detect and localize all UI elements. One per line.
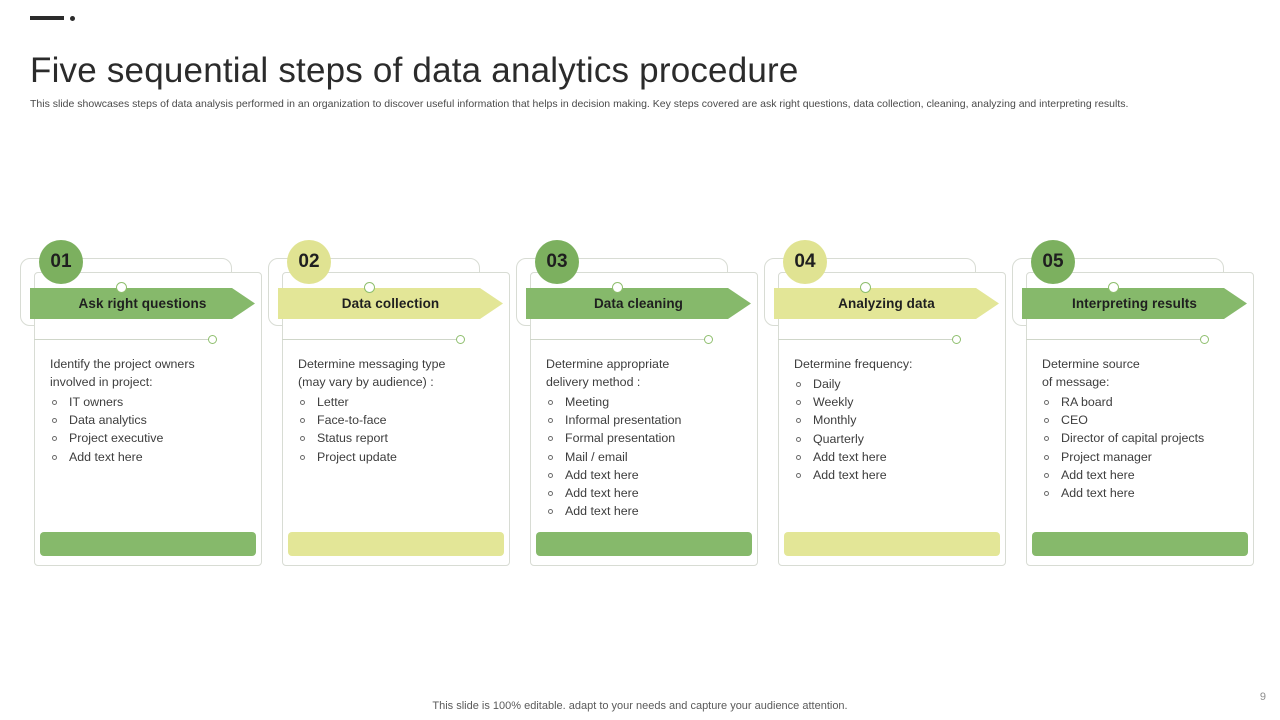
step-title: Interpreting results	[1072, 296, 1197, 311]
circle-bullet-icon	[1044, 473, 1049, 478]
step-02[interactable]: Data collection02Determine messaging typ…	[268, 236, 516, 566]
list-item: Add text here	[546, 466, 762, 484]
step-number-badge: 01	[39, 240, 83, 284]
list-item-label: Daily	[813, 377, 841, 391]
circle-bullet-icon	[300, 418, 305, 423]
step-lead-text: Identify the project owners involved in …	[50, 356, 266, 392]
step-body: Determine frequency:DailyWeeklyMonthlyQu…	[794, 356, 1010, 484]
list-item: RA board	[1042, 393, 1258, 411]
step-04[interactable]: Analyzing data04Determine frequency:Dail…	[764, 236, 1012, 566]
step-list: DailyWeeklyMonthlyQuarterlyAdd text here…	[794, 375, 1010, 484]
page-subtitle: This slide showcases steps of data analy…	[30, 97, 1170, 112]
circle-bullet-icon	[52, 436, 57, 441]
step-banner[interactable]: Interpreting results	[1022, 288, 1247, 319]
list-item-label: Informal presentation	[565, 413, 681, 427]
circle-bullet-icon	[548, 455, 553, 460]
circle-bullet-icon	[548, 473, 553, 478]
list-item: Add text here	[794, 448, 1010, 466]
list-item-label: Status report	[317, 431, 388, 445]
circle-bullet-icon	[796, 473, 801, 478]
list-item-label: Add text here	[1061, 486, 1135, 500]
step-number-badge: 03	[535, 240, 579, 284]
circle-bullet-icon	[300, 400, 305, 405]
connector-dot-icon	[704, 335, 713, 344]
banner-notch-dot-icon	[116, 282, 127, 293]
step-03[interactable]: Data cleaning03Determine appropriate del…	[516, 236, 764, 566]
list-item: Add text here	[546, 502, 762, 520]
connector-dot-icon	[952, 335, 961, 344]
list-item-label: Add text here	[565, 504, 639, 518]
circle-bullet-icon	[52, 400, 57, 405]
circle-bullet-icon	[548, 418, 553, 423]
step-lead-text: Determine frequency:	[794, 356, 1010, 374]
steps-container: Ask right questions01Identify the projec…	[0, 236, 1280, 566]
title-accent-dot	[70, 16, 75, 21]
list-item: Add text here	[50, 448, 266, 466]
banner-notch-dot-icon	[1108, 282, 1119, 293]
list-item-label: RA board	[1061, 395, 1113, 409]
step-lead-text: Determine source of message:	[1042, 356, 1258, 392]
list-item-label: Project manager	[1061, 450, 1152, 464]
page-title: Five sequential steps of data analytics …	[30, 51, 799, 91]
connector-dot-icon	[208, 335, 217, 344]
list-item: Status report	[298, 429, 514, 447]
list-item: Add text here	[1042, 466, 1258, 484]
step-list: LetterFace-to-faceStatus reportProject u…	[298, 393, 514, 466]
list-item: CEO	[1042, 411, 1258, 429]
list-item: Data analytics	[50, 411, 266, 429]
step-lead-text: Determine appropriate delivery method :	[546, 356, 762, 392]
step-title: Data cleaning	[594, 296, 683, 311]
step-number-badge: 02	[287, 240, 331, 284]
step-banner[interactable]: Data collection	[278, 288, 503, 319]
list-item-label: Quarterly	[813, 432, 864, 446]
step-footer-bar	[536, 532, 752, 556]
step-list: RA boardCEODirector of capital projectsP…	[1042, 393, 1258, 502]
list-item-label: IT owners	[69, 395, 123, 409]
circle-bullet-icon	[796, 418, 801, 423]
connector-line	[1026, 339, 1204, 340]
list-item-label: Add text here	[565, 486, 639, 500]
circle-bullet-icon	[300, 436, 305, 441]
circle-bullet-icon	[796, 455, 801, 460]
circle-bullet-icon	[548, 436, 553, 441]
list-item: Director of capital projects	[1042, 429, 1258, 447]
list-item: Project update	[298, 448, 514, 466]
step-list: MeetingInformal presentationFormal prese…	[546, 393, 762, 521]
list-item-label: Add text here	[565, 468, 639, 482]
step-lead-text: Determine messaging type (may vary by au…	[298, 356, 514, 392]
connector-line	[34, 339, 212, 340]
step-title: Data collection	[342, 296, 440, 311]
step-footer-bar	[288, 532, 504, 556]
list-item: Monthly	[794, 411, 1010, 429]
circle-bullet-icon	[52, 455, 57, 460]
step-title: Analyzing data	[838, 296, 935, 311]
list-item-label: Mail / email	[565, 450, 628, 464]
step-body: Determine appropriate delivery method :M…	[546, 356, 762, 521]
list-item: Weekly	[794, 393, 1010, 411]
list-item-label: Meeting	[565, 395, 609, 409]
list-item-label: Weekly	[813, 395, 853, 409]
list-item: IT owners	[50, 393, 266, 411]
circle-bullet-icon	[300, 455, 305, 460]
list-item: Quarterly	[794, 430, 1010, 448]
connector-line	[530, 339, 708, 340]
circle-bullet-icon	[1044, 436, 1049, 441]
list-item: Mail / email	[546, 448, 762, 466]
list-item: Add text here	[794, 466, 1010, 484]
circle-bullet-icon	[796, 437, 801, 442]
circle-bullet-icon	[1044, 400, 1049, 405]
circle-bullet-icon	[796, 400, 801, 405]
step-number-badge: 05	[1031, 240, 1075, 284]
list-item: Formal presentation	[546, 429, 762, 447]
footer-note: This slide is 100% editable. adapt to yo…	[0, 700, 1280, 712]
circle-bullet-icon	[548, 509, 553, 514]
connector-dot-icon	[1200, 335, 1209, 344]
step-footer-bar	[1032, 532, 1248, 556]
list-item-label: Add text here	[813, 468, 887, 482]
step-title: Ask right questions	[79, 296, 207, 311]
list-item-label: Formal presentation	[565, 431, 675, 445]
step-body: Determine source of message:RA boardCEOD…	[1042, 356, 1258, 502]
step-banner[interactable]: Data cleaning	[526, 288, 751, 319]
circle-bullet-icon	[548, 400, 553, 405]
list-item-label: Monthly	[813, 413, 856, 427]
step-banner[interactable]: Ask right questions	[30, 288, 255, 319]
page-number: 9	[1260, 691, 1266, 703]
list-item-label: Add text here	[813, 450, 887, 464]
step-05[interactable]: Interpreting results05Determine source o…	[1012, 236, 1260, 566]
list-item: Meeting	[546, 393, 762, 411]
list-item: Project executive	[50, 429, 266, 447]
step-list: IT ownersData analyticsProject executive…	[50, 393, 266, 466]
list-item-label: Project update	[317, 450, 397, 464]
list-item: Project manager	[1042, 448, 1258, 466]
circle-bullet-icon	[548, 491, 553, 496]
list-item-label: Project executive	[69, 431, 163, 445]
step-01[interactable]: Ask right questions01Identify the projec…	[20, 236, 268, 566]
list-item: Add text here	[1042, 484, 1258, 502]
list-item: Add text here	[546, 484, 762, 502]
banner-notch-dot-icon	[860, 282, 871, 293]
list-item-label: Add text here	[1061, 468, 1135, 482]
list-item: Face-to-face	[298, 411, 514, 429]
title-accent-rule	[30, 16, 64, 20]
banner-notch-dot-icon	[364, 282, 375, 293]
circle-bullet-icon	[1044, 491, 1049, 496]
banner-notch-dot-icon	[612, 282, 623, 293]
connector-line	[778, 339, 956, 340]
step-body: Identify the project owners involved in …	[50, 356, 266, 466]
list-item: Daily	[794, 375, 1010, 393]
list-item-label: Letter	[317, 395, 349, 409]
step-body: Determine messaging type (may vary by au…	[298, 356, 514, 466]
circle-bullet-icon	[1044, 455, 1049, 460]
circle-bullet-icon	[1044, 418, 1049, 423]
circle-bullet-icon	[796, 382, 801, 387]
step-footer-bar	[784, 532, 1000, 556]
connector-line	[282, 339, 460, 340]
list-item: Letter	[298, 393, 514, 411]
step-footer-bar	[40, 532, 256, 556]
list-item-label: Director of capital projects	[1061, 431, 1204, 445]
list-item-label: Add text here	[69, 450, 143, 464]
list-item-label: Data analytics	[69, 413, 147, 427]
list-item-label: CEO	[1061, 413, 1088, 427]
circle-bullet-icon	[52, 418, 57, 423]
connector-dot-icon	[456, 335, 465, 344]
step-banner[interactable]: Analyzing data	[774, 288, 999, 319]
list-item: Informal presentation	[546, 411, 762, 429]
list-item-label: Face-to-face	[317, 413, 387, 427]
step-number-badge: 04	[783, 240, 827, 284]
